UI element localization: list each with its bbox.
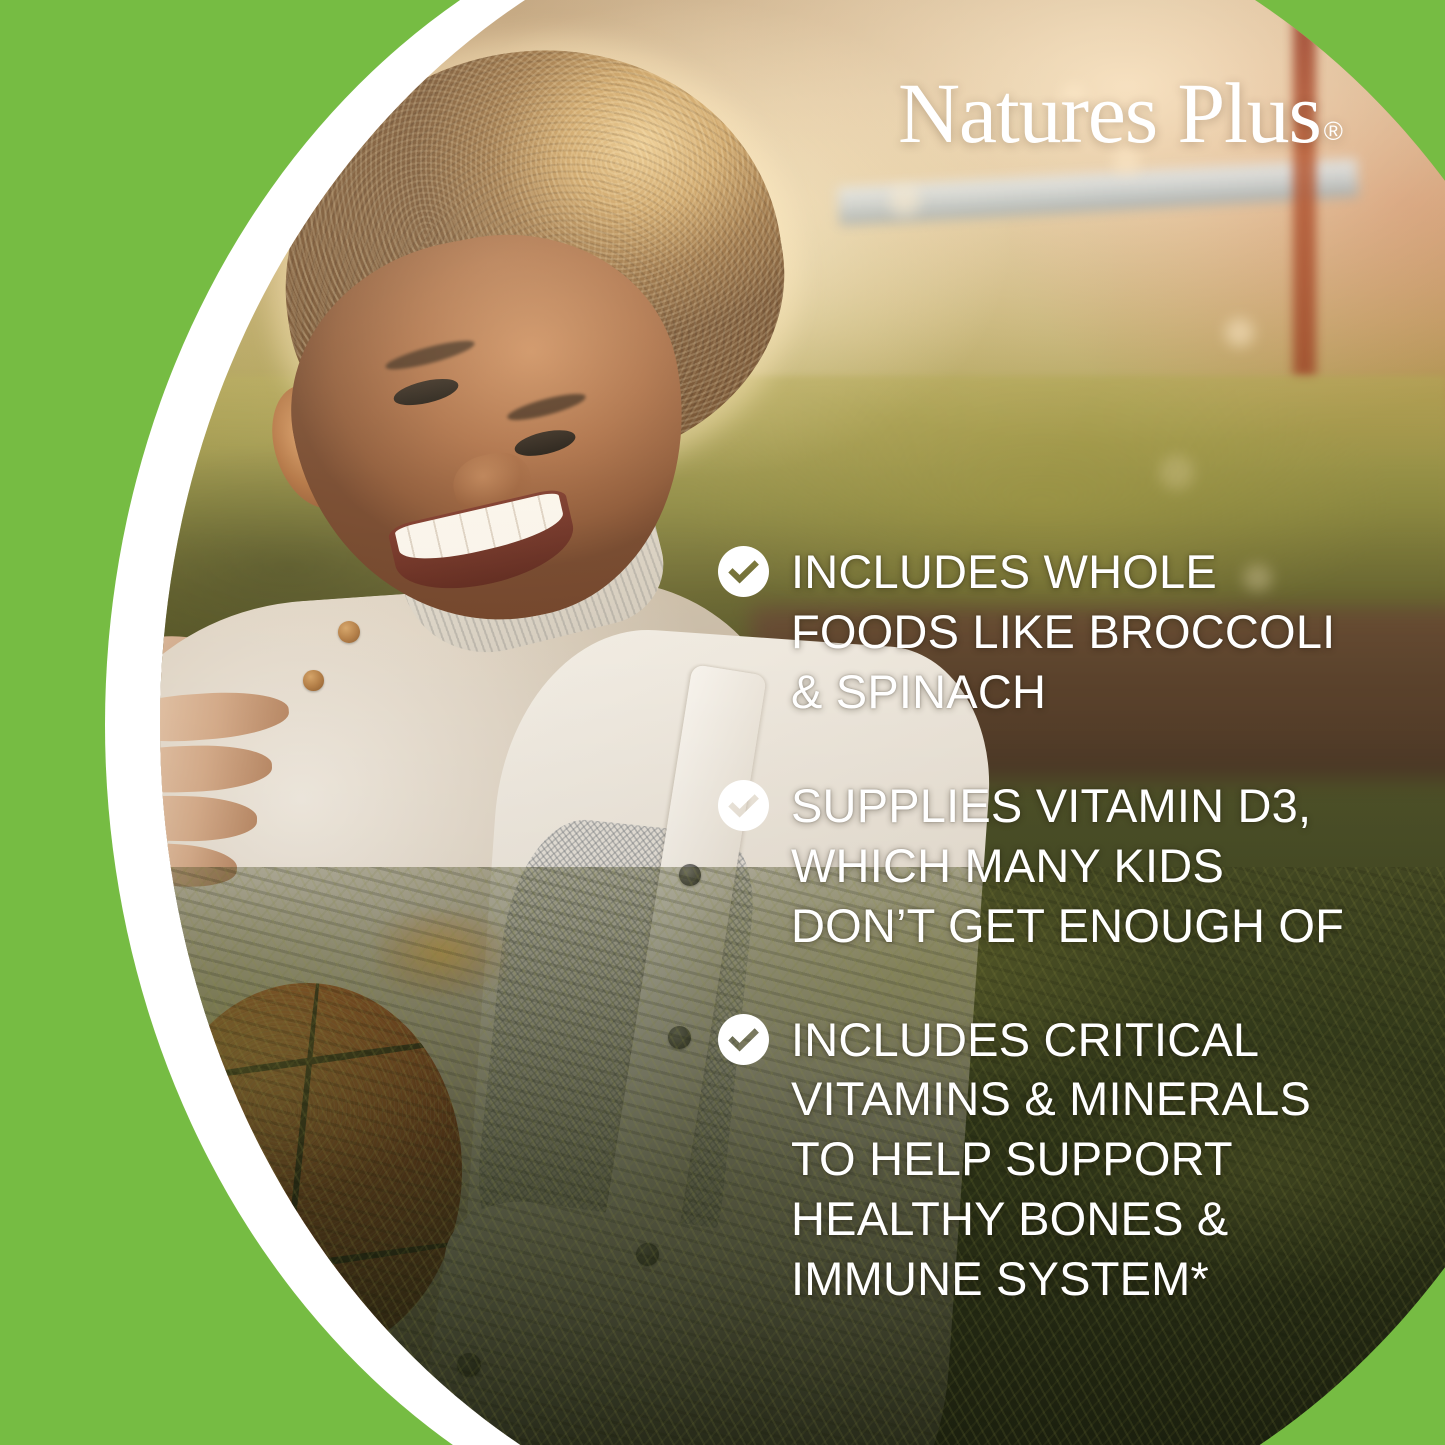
list-item: INCLUDES WHOLE FOODS LIKE BROCCOLI & SPI…	[718, 542, 1390, 722]
benefits-list: INCLUDES WHOLE FOODS LIKE BROCCOLI & SPI…	[718, 542, 1390, 1309]
registered-trademark-icon: ®	[1324, 118, 1342, 144]
list-item-label: INCLUDES CRITICAL VITAMINS & MINERALS TO…	[791, 1010, 1311, 1310]
check-circle-icon	[718, 1014, 769, 1065]
check-circle-icon	[718, 546, 769, 597]
banner-root: Natures Plus ® INCLUDES WHOLE FOODS LIKE…	[0, 0, 1445, 1445]
list-item: SUPPLIES VITAMIN D3, WHICH MANY KIDS DON…	[718, 776, 1390, 956]
check-circle-icon	[718, 780, 769, 831]
list-item: INCLUDES CRITICAL VITAMINS & MINERALS TO…	[718, 1010, 1390, 1310]
list-item-label: INCLUDES WHOLE FOODS LIKE BROCCOLI & SPI…	[791, 542, 1335, 722]
brand-logo: Natures Plus ®	[898, 70, 1342, 156]
brand-logo-text: Natures Plus	[898, 70, 1321, 156]
list-item-label: SUPPLIES VITAMIN D3, WHICH MANY KIDS DON…	[791, 776, 1344, 956]
